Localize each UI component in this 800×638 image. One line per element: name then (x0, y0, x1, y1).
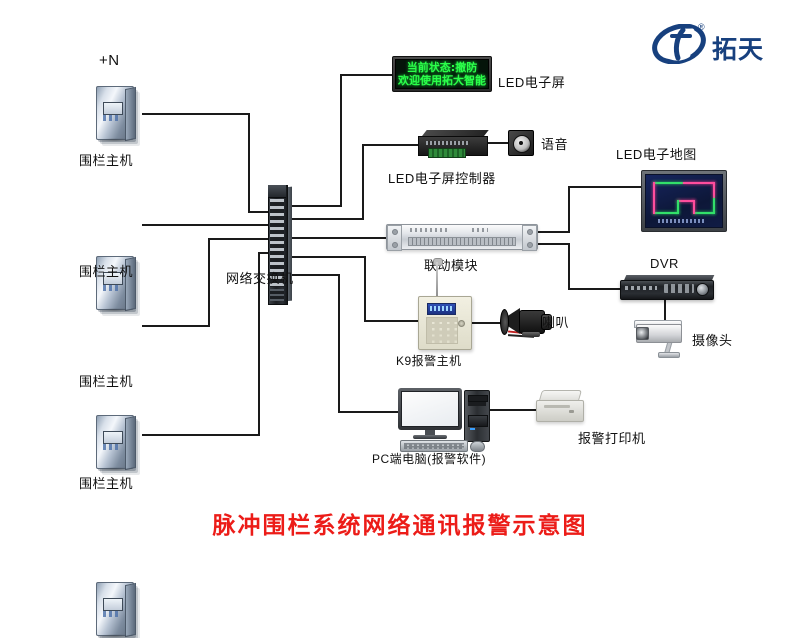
led-map-label: LED电子地图 (616, 144, 697, 163)
linkage-module-ear-right (522, 225, 537, 251)
alarm-printer[interactable] (536, 390, 584, 424)
diagram-canvas: ® 拓天 +N (0, 0, 800, 579)
led-display-line1: 当前状态:撤防 (407, 61, 477, 74)
fence-host-2-label: 围栏主机 (79, 261, 133, 280)
wire-lk-dvr-a (536, 243, 570, 245)
wire-host4-a (142, 434, 260, 436)
fence-host-display-icon (103, 102, 123, 115)
wire-host2 (142, 224, 270, 226)
monitor-base (413, 435, 447, 439)
wire-lk-map-b (568, 186, 570, 232)
plus-n-label: +N (99, 52, 120, 69)
led-display-screen-label: LED电子屏 (498, 72, 565, 91)
fence-host-display-icon (103, 431, 123, 444)
pc-tower-icon (464, 390, 490, 442)
fence-host-4[interactable] (92, 580, 138, 638)
pc-workstation-label: PC端电脑(报警软件) (372, 450, 486, 467)
dvr-buttons[interactable] (664, 284, 694, 293)
fence-host-side (125, 87, 136, 141)
trademark-symbol: ® (698, 22, 705, 32)
fence-host-shadow (98, 308, 132, 312)
wire-sw-linkage (290, 237, 388, 239)
fence-host-keypad-icon (103, 444, 121, 450)
camera-label: 摄像头 (692, 330, 733, 349)
wire-sw-led-c (340, 74, 394, 76)
monitor-screen (401, 391, 459, 427)
linkage-module-terminals-icon (408, 237, 516, 246)
wire-lk-map-a (536, 231, 570, 233)
wire-host1-b (248, 113, 250, 213)
led-map[interactable] (641, 170, 727, 232)
switch-top (268, 185, 286, 198)
fence-host-display-icon (103, 598, 123, 611)
wire-sw-pc-b (338, 274, 340, 413)
voice-module-label: 语音 (541, 134, 568, 153)
wire-sw-led-a (290, 205, 342, 207)
wire-sw-pc-c (338, 411, 400, 413)
horn-bracket (522, 332, 540, 337)
camera-mount (658, 352, 680, 358)
led-map-screen (645, 174, 723, 228)
led-display-screen[interactable]: 当前状态:撤防 欢迎使用拓大智能 (392, 56, 492, 92)
led-display-line2: 欢迎使用拓大智能 (398, 74, 486, 87)
switch-leds-icon (270, 289, 284, 301)
wire-sw-led-b (340, 74, 342, 207)
wire-sw-k9-b (364, 256, 366, 322)
fence-host-side (125, 416, 136, 470)
led-controller-label: LED电子屏控制器 (388, 168, 496, 187)
voice-module[interactable] (508, 130, 534, 156)
dvr-jog-dial[interactable] (696, 283, 709, 296)
wire-sw-ctl-b (362, 144, 364, 220)
camera[interactable] (632, 324, 694, 360)
antenna-icon (436, 262, 438, 298)
wire-host3-c (208, 238, 270, 240)
k9-antenna-tip (433, 258, 443, 266)
k9-alarm-host[interactable] (418, 296, 470, 348)
fence-host-3-label: 围栏主机 (79, 371, 133, 390)
led-display-panel: 当前状态:撤防 欢迎使用拓大智能 (395, 59, 489, 89)
fence-host-side (125, 583, 136, 637)
voice-module-dot (519, 141, 523, 145)
k9-lcd-display (427, 303, 456, 315)
brand-logo: ® 拓天 (652, 24, 792, 68)
wire-host3-b (208, 238, 210, 327)
wire-sw-k9-c (364, 320, 420, 322)
wire-lk-dvr-b (568, 243, 570, 289)
fence-host-shadow (98, 634, 132, 638)
fence-host-keypad-icon (103, 115, 121, 121)
fence-host-shadow (98, 138, 132, 142)
wire-sw-ctl-c (362, 144, 420, 146)
wire-sw-pc-a (290, 274, 340, 276)
led-controller[interactable] (418, 130, 490, 158)
fence-host-1[interactable] (92, 84, 138, 142)
fence-host-keypad-icon (103, 285, 121, 291)
pc-workstation[interactable] (398, 388, 502, 444)
fence-host-shadow (98, 467, 132, 471)
printer-button[interactable] (569, 410, 574, 413)
k9-indicator-led (458, 320, 465, 327)
keypad-icon[interactable] (426, 317, 458, 344)
wire-host1-a (142, 113, 250, 115)
fence-host-keypad-icon (103, 611, 121, 617)
wire-lk-map-c (568, 186, 644, 188)
camera-lens (636, 327, 649, 340)
wire-sw-ctl-a (290, 218, 364, 220)
dvr[interactable] (620, 275, 716, 301)
led-map-perimeter-icon (653, 182, 715, 216)
wire-lk-dvr-c (568, 288, 622, 290)
brand-name: 拓天 (712, 30, 764, 66)
fence-host-1-label: 围栏主机 (79, 150, 133, 169)
wire-sw-k9-a (290, 256, 366, 258)
wire-host3-a (142, 325, 210, 327)
wire-k9-horn (468, 322, 502, 324)
linkage-module[interactable] (386, 224, 538, 250)
diagram-title: 脉冲围栏系统网络通讯报警示意图 (0, 506, 800, 540)
fence-host-3[interactable] (92, 413, 138, 471)
led-map-caption (658, 219, 706, 223)
network-switch-label: 网络交换机 (226, 268, 294, 287)
fence-host-4-label: 围栏主机 (79, 473, 133, 492)
alarm-printer-label: 报警打印机 (578, 428, 646, 447)
printer-body (536, 400, 584, 422)
dvr-label: DVR (650, 256, 679, 271)
k9-alarm-host-label: K9报警主机 (396, 352, 462, 369)
linkage-module-label: 联动模块 (424, 255, 478, 274)
horn-speaker-label: 喇叭 (542, 312, 569, 331)
printer-paper-slot (544, 405, 570, 408)
led-controller-ports-icon (426, 141, 470, 145)
linkage-module-ear-left (387, 225, 402, 251)
linkage-module-marking2 (472, 228, 488, 232)
horn-mouth (500, 309, 509, 335)
linkage-module-marking (410, 228, 450, 232)
monitor-icon (398, 388, 462, 430)
led-controller-terminal-icon (428, 148, 466, 158)
dvr-indicator-strip (625, 286, 657, 290)
